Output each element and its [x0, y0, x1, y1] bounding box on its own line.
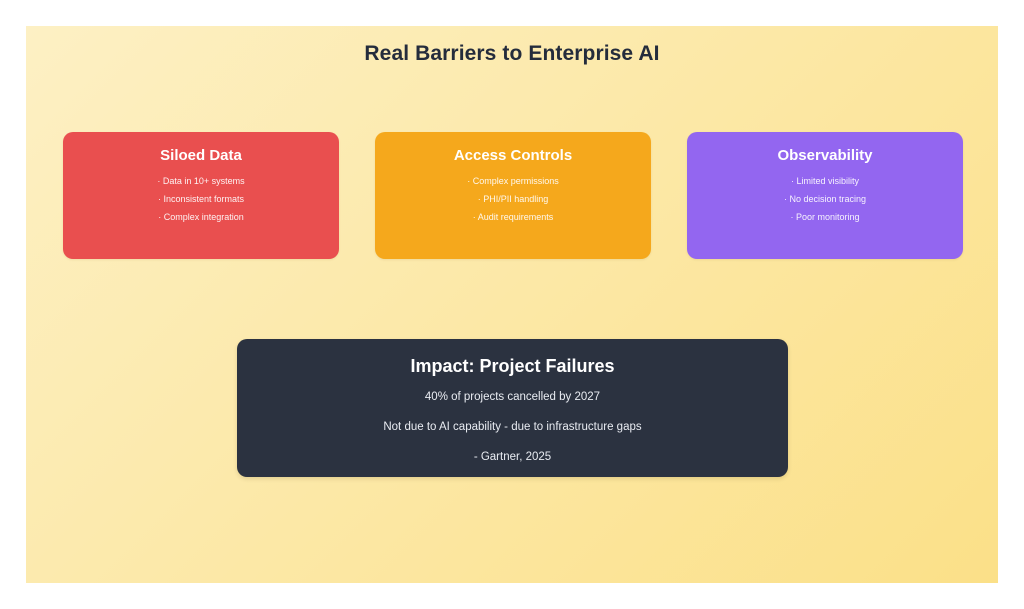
impact-statistic-line: 40% of projects cancelled by 2027 [425, 390, 600, 404]
barrier-card-bullet: · Limited visibility [791, 176, 859, 186]
slide-canvas: Real Barriers to Enterprise AI Siloed Da… [26, 26, 998, 583]
barrier-card-bullet: · Poor monitoring [790, 212, 859, 222]
barrier-card-title: Siloed Data [160, 147, 242, 165]
barrier-card-bullet: · No decision tracing [784, 194, 866, 204]
barrier-card-bullet: · Complex permissions [467, 176, 559, 186]
page-title: Real Barriers to Enterprise AI [26, 42, 998, 66]
impact-explanation-line: Not due to AI capability - due to infras… [383, 420, 641, 434]
barrier-card-bullet: · Complex integration [158, 212, 244, 222]
barrier-card-bullet: · PHI/PII handling [478, 194, 549, 204]
barrier-card-bullet-list: · Limited visibility · No decision traci… [784, 176, 866, 222]
barrier-card-title: Observability [777, 147, 872, 165]
barrier-card-access-controls[interactable]: Access Controls · Complex permissions · … [375, 132, 651, 259]
impact-panel: Impact: Project Failures 40% of projects… [237, 339, 788, 477]
barrier-card-bullet-list: · Data in 10+ systems · Inconsistent for… [157, 176, 244, 222]
barrier-card-bullet: · Data in 10+ systems [157, 176, 244, 186]
barrier-cards-row: Siloed Data · Data in 10+ systems · Inco… [63, 132, 963, 259]
barrier-card-bullet: · Audit requirements [473, 212, 554, 222]
barrier-card-observability[interactable]: Observability · Limited visibility · No … [687, 132, 963, 259]
barrier-card-bullet-list: · Complex permissions · PHI/PII handling… [467, 176, 559, 222]
barrier-card-siloed-data[interactable]: Siloed Data · Data in 10+ systems · Inco… [63, 132, 339, 259]
impact-panel-title: Impact: Project Failures [410, 355, 614, 377]
barrier-card-bullet: · Inconsistent formats [158, 194, 244, 204]
barrier-card-title: Access Controls [454, 147, 572, 165]
impact-source-citation: - Gartner, 2025 [474, 450, 551, 464]
